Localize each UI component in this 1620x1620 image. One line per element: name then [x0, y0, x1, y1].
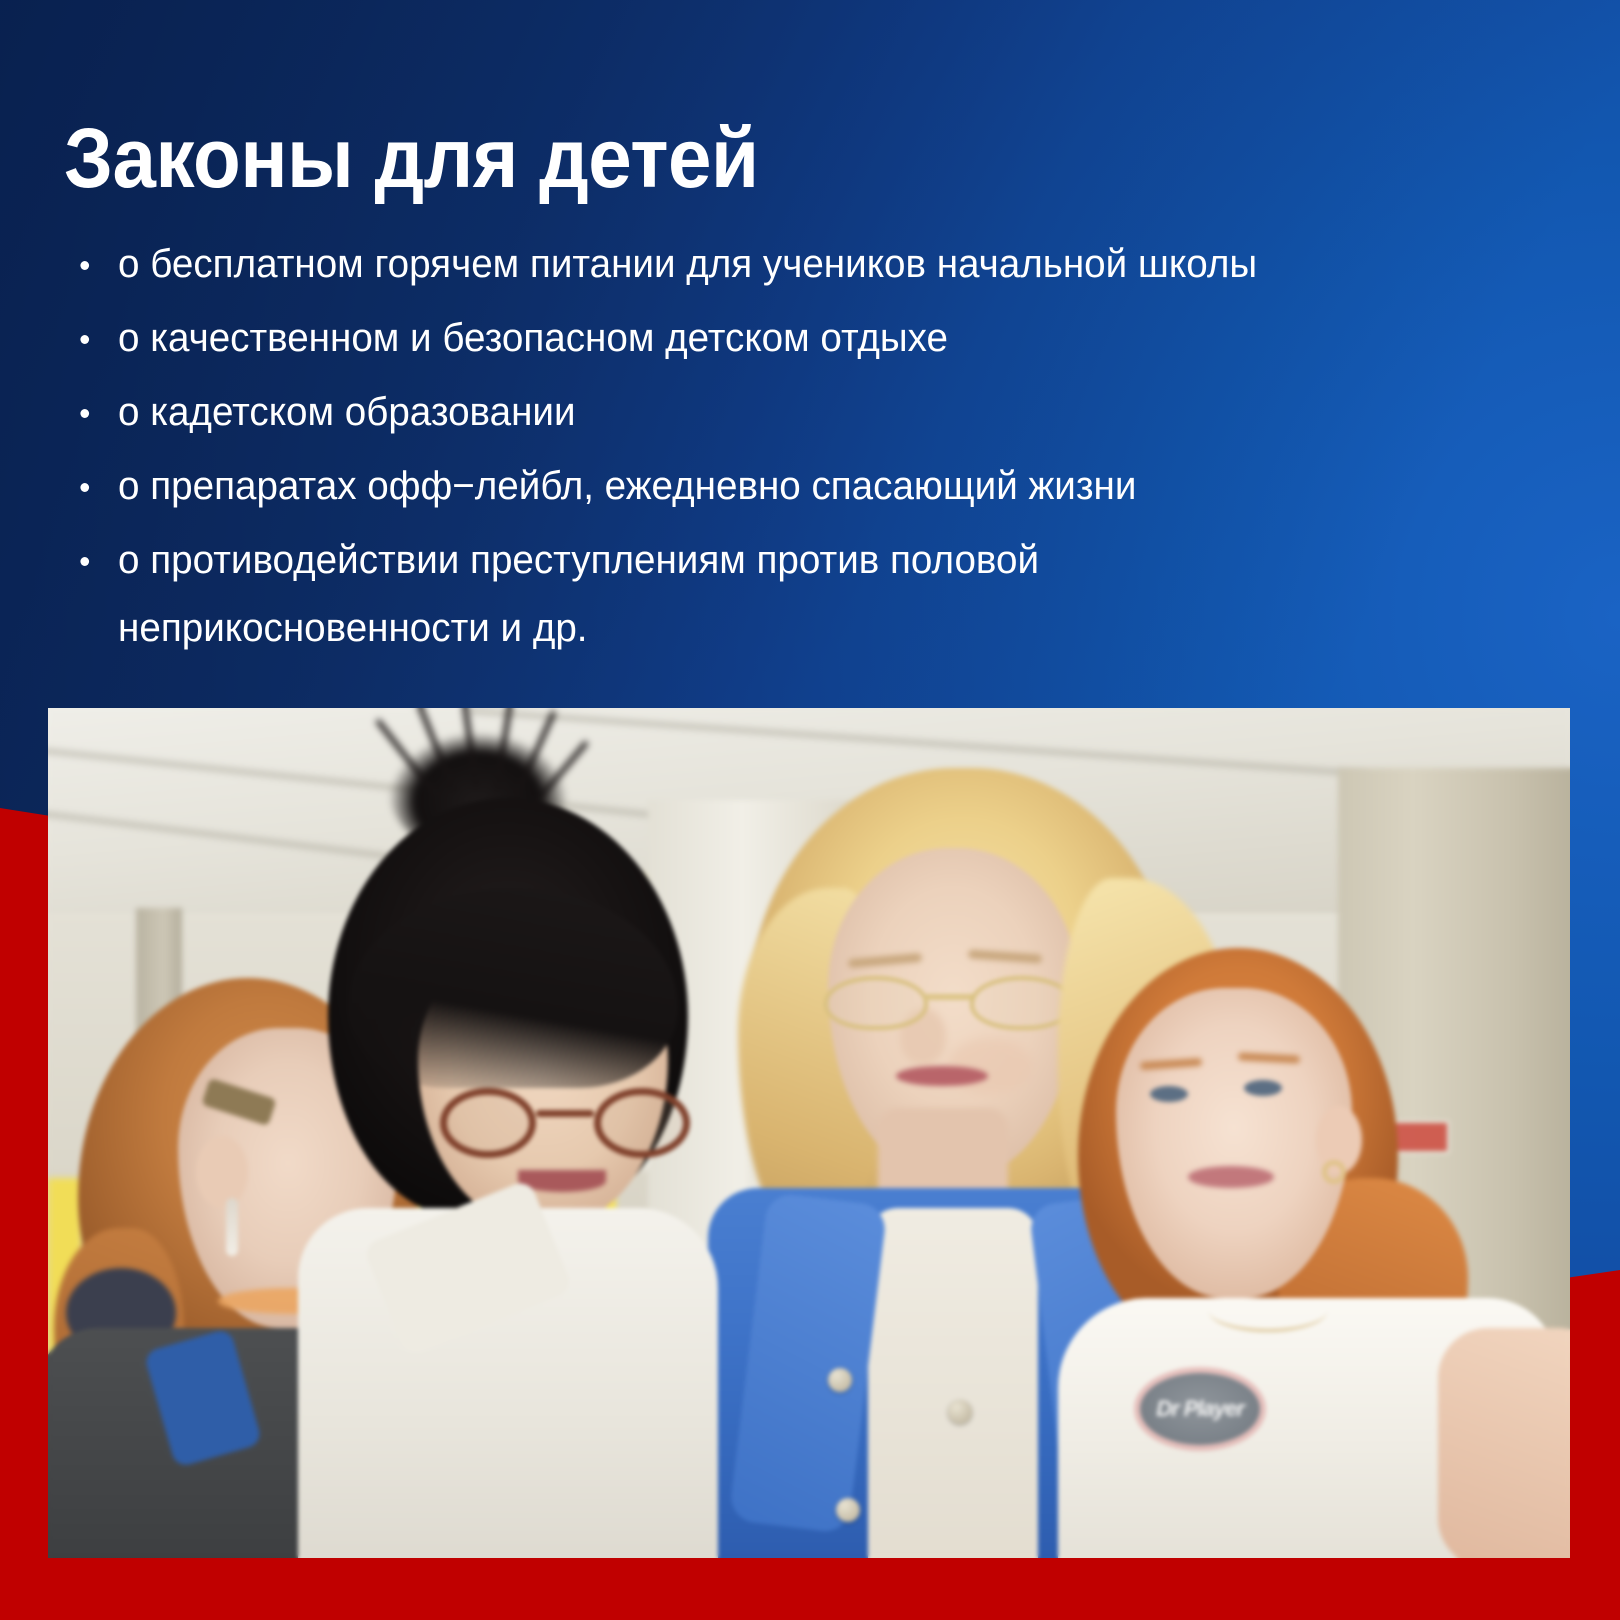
list-item-label: о бесплатном горячем питании для ученико…	[118, 242, 1257, 286]
list-item: о кадетском образовании	[64, 378, 1512, 446]
blazer-button	[836, 1498, 860, 1522]
list-item-label: о качественном и безопасном детском отды…	[118, 316, 948, 360]
list-item-label: о кадетском образовании	[118, 390, 576, 434]
lens-right	[594, 1088, 690, 1158]
girl-right-necklace	[1208, 1288, 1328, 1332]
bullet-dot-icon	[80, 483, 89, 492]
bullet-dot-icon	[80, 335, 89, 344]
tshirt-logo-text: Dr Player	[1156, 1396, 1244, 1422]
girl-left-earring	[226, 1198, 238, 1256]
list-item-label: о противодействии преступлениям против п…	[118, 538, 1039, 650]
bullet-dot-icon	[80, 261, 89, 270]
woman-glasses-icon	[820, 976, 1078, 1032]
bullet-dot-icon	[80, 557, 89, 566]
list-item: о качественном и безопасном детском отды…	[64, 304, 1512, 372]
page-title: Законы для детей	[64, 112, 1459, 204]
woman-shirt	[868, 1208, 1038, 1558]
slide-canvas: Законы для детей о бесплатном горячем пи…	[0, 0, 1620, 1620]
girl-right-earring	[1322, 1160, 1346, 1184]
blazer-button	[828, 1368, 852, 1392]
list-item: о препаратах офф−лейбл, ежедневно спасаю…	[64, 452, 1512, 520]
list-item-label: о препаратах офф−лейбл, ежедневно спасаю…	[118, 464, 1136, 508]
girl-middle-glasses-icon	[440, 1088, 690, 1158]
photo-group-children-with-woman: Dr Player	[48, 708, 1570, 1558]
tshirt-logo-badge: Dr Player	[1140, 1373, 1260, 1445]
hair-spike	[458, 708, 479, 788]
law-list: о бесплатном горячем питании для ученико…	[64, 230, 1564, 662]
lens-left	[824, 976, 928, 1030]
bullet-dot-icon	[80, 409, 89, 418]
glasses-bridge	[924, 994, 976, 1000]
girl-left-ear	[196, 1136, 248, 1208]
list-item: о бесплатном горячем питании для ученико…	[64, 230, 1512, 298]
girl-right-smile	[1188, 1166, 1274, 1188]
blazer-button	[948, 1400, 972, 1424]
list-item: о противодействии преступлениям против п…	[64, 526, 1203, 662]
girl-right-arm	[1438, 1328, 1570, 1558]
girl-right-eye-left	[1150, 1086, 1188, 1102]
text-block: Законы для детей о бесплатном горячем пи…	[64, 112, 1564, 668]
girl-right-eye-right	[1244, 1080, 1282, 1096]
glasses-bridge	[536, 1110, 594, 1117]
woman-mouth	[896, 1066, 988, 1086]
lens-left	[440, 1088, 536, 1158]
